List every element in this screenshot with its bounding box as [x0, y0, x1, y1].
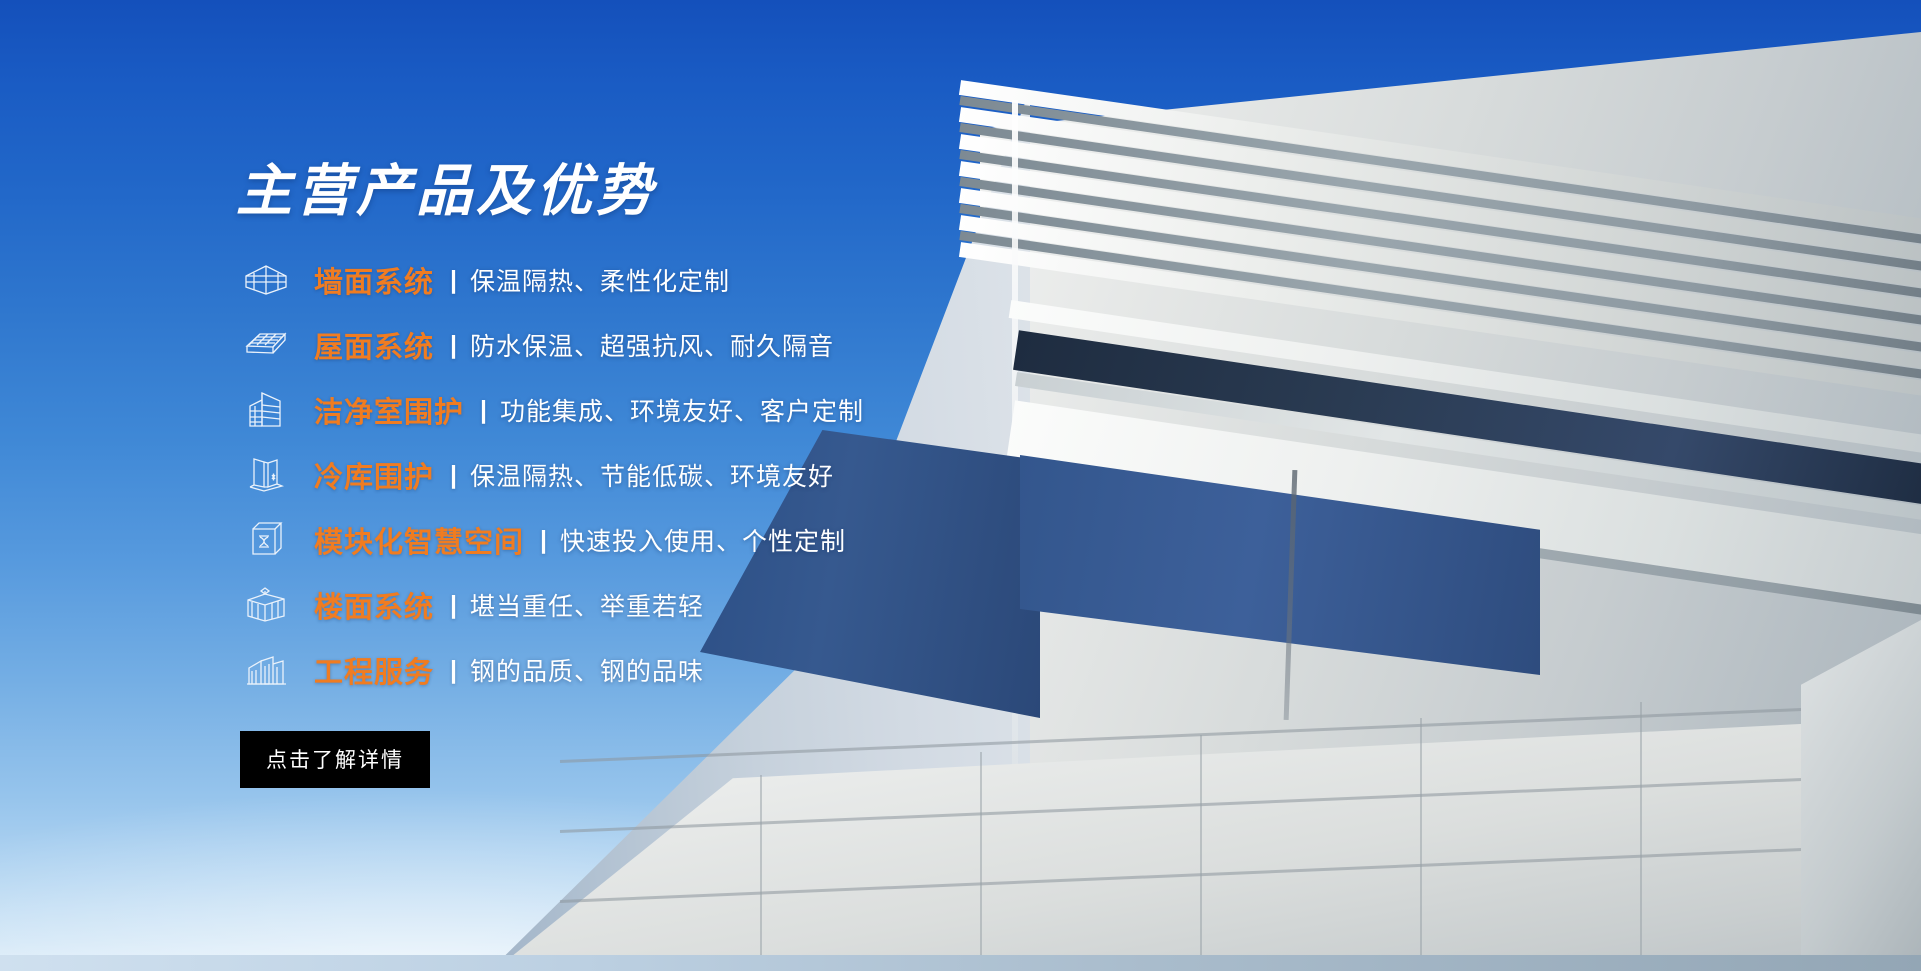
cleanroom-building-icon: [240, 389, 292, 431]
page-title: 主营产品及优势: [236, 160, 1336, 222]
feature-row[interactable]: 楼面系统 | 堪当重任、举重若轻: [236, 573, 1336, 638]
feature-description: 保温隔热、节能低碳、环境友好: [470, 457, 834, 493]
banner-content: 主营产品及优势 墙面系统 | 保温隔热、柔性化定制: [236, 160, 1336, 788]
feature-title: 墙面系统: [314, 259, 434, 301]
feature-description: 保温隔热、柔性化定制: [470, 262, 730, 298]
podium-mullion: [760, 775, 762, 971]
product-advantages-banner: 主营产品及优势 墙面系统 | 保温隔热、柔性化定制: [0, 0, 1921, 971]
feature-row[interactable]: 洁净室围护 | 功能集成、环境友好、客户定制: [236, 378, 1336, 443]
feature-row[interactable]: 工程服务 | 钢的品质、钢的品味: [236, 638, 1336, 703]
podium-mullion: [1420, 718, 1422, 971]
ground-strip: [0, 955, 1921, 971]
feature-separator: |: [540, 528, 547, 553]
feature-separator: |: [450, 658, 457, 683]
feature-list: 墙面系统 | 保温隔热、柔性化定制 屋面系统 | 防水保温、超强抗: [236, 248, 1336, 703]
feature-separator: |: [450, 463, 457, 488]
learn-more-button[interactable]: 点击了解详情: [240, 731, 430, 788]
feature-separator: |: [450, 268, 457, 293]
feature-title: 洁净室围护: [314, 389, 464, 431]
feature-row[interactable]: 模块化智慧空间 | 快速投入使用、个性定制: [236, 508, 1336, 573]
feature-title: 屋面系统: [314, 324, 434, 366]
modular-space-icon: [240, 519, 292, 561]
feature-separator: |: [450, 593, 457, 618]
feature-title: 楼面系统: [314, 584, 434, 626]
feature-row[interactable]: 冷库围护 | 保温隔热、节能低碳、环境友好: [236, 443, 1336, 508]
floor-system-icon: [240, 584, 292, 626]
feature-description: 钢的品质、钢的品味: [470, 652, 704, 688]
engineering-service-icon: [240, 649, 292, 691]
feature-row[interactable]: 墙面系统 | 保温隔热、柔性化定制: [236, 248, 1336, 313]
feature-row[interactable]: 屋面系统 | 防水保温、超强抗风、耐久隔音: [236, 313, 1336, 378]
feature-description: 防水保温、超强抗风、耐久隔音: [470, 327, 834, 363]
feature-separator: |: [480, 398, 487, 423]
cold-storage-icon: [240, 454, 292, 496]
feature-description: 功能集成、环境友好、客户定制: [500, 392, 864, 428]
feature-title: 模块化智慧空间: [314, 519, 524, 561]
feature-title: 冷库围护: [314, 454, 434, 496]
wall-panel-icon: [240, 259, 292, 301]
feature-title: 工程服务: [314, 649, 434, 691]
roof-panel-icon: [240, 324, 292, 366]
feature-description: 堪当重任、举重若轻: [470, 587, 704, 623]
feature-description: 快速投入使用、个性定制: [560, 522, 846, 558]
feature-separator: |: [450, 333, 457, 358]
podium-mullion: [1640, 702, 1642, 971]
